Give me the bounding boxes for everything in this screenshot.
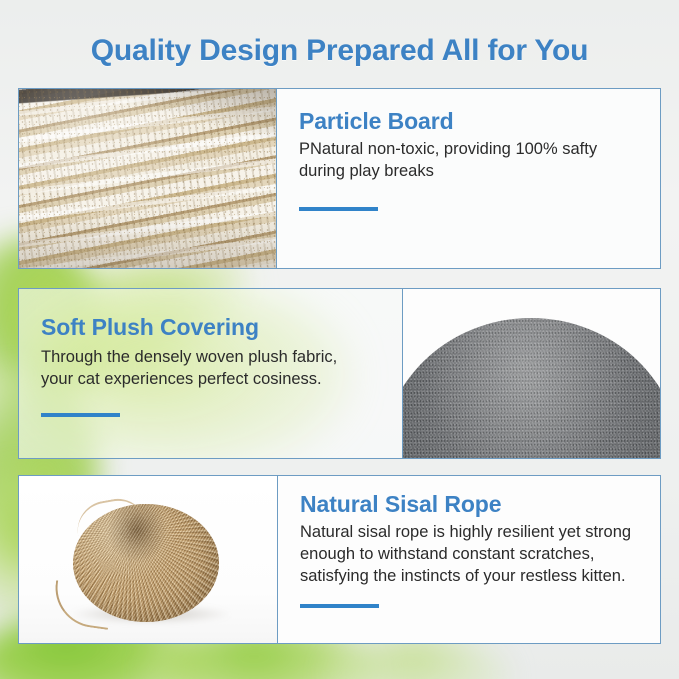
page-title: Quality Design Prepared All for You xyxy=(0,34,679,68)
card-text-area: Soft Plush Covering Through the densely … xyxy=(19,289,402,458)
particle-texture-overlay xyxy=(19,89,277,268)
card-divider xyxy=(402,289,403,458)
accent-bar xyxy=(300,604,379,608)
infographic-page: Quality Design Prepared All for You Part… xyxy=(0,0,679,679)
card-description: Natural sisal rope is highly resilient y… xyxy=(300,522,638,588)
card-description: Through the densely woven plush fabric, … xyxy=(41,347,361,391)
accent-bar xyxy=(299,207,378,211)
particle-board-photo xyxy=(19,89,277,268)
card-text-area: Particle Board PNatural non-toxic, provi… xyxy=(277,89,660,268)
card-heading: Soft Plush Covering xyxy=(41,315,380,340)
card-heading: Particle Board xyxy=(299,109,638,134)
feature-card-soft-plush-covering: Soft Plush Covering Through the densely … xyxy=(18,288,661,459)
plush-dome-shape xyxy=(402,318,660,458)
particle-board-image xyxy=(19,89,277,268)
accent-bar xyxy=(41,413,120,417)
plush-fabric-photo xyxy=(402,289,660,458)
feature-card-natural-sisal-rope: Natural Sisal Rope Natural sisal rope is… xyxy=(18,475,661,644)
sisal-rope-photo xyxy=(19,476,278,643)
plush-fabric-image xyxy=(402,289,660,458)
card-heading: Natural Sisal Rope xyxy=(300,492,638,517)
sisal-rope-image xyxy=(19,476,278,643)
card-description: PNatural non-toxic, providing 100% safty… xyxy=(299,139,634,183)
feature-card-particle-board: Particle Board PNatural non-toxic, provi… xyxy=(18,88,661,269)
card-text-area: Natural Sisal Rope Natural sisal rope is… xyxy=(278,476,660,643)
sisal-loose-strand xyxy=(50,580,113,630)
